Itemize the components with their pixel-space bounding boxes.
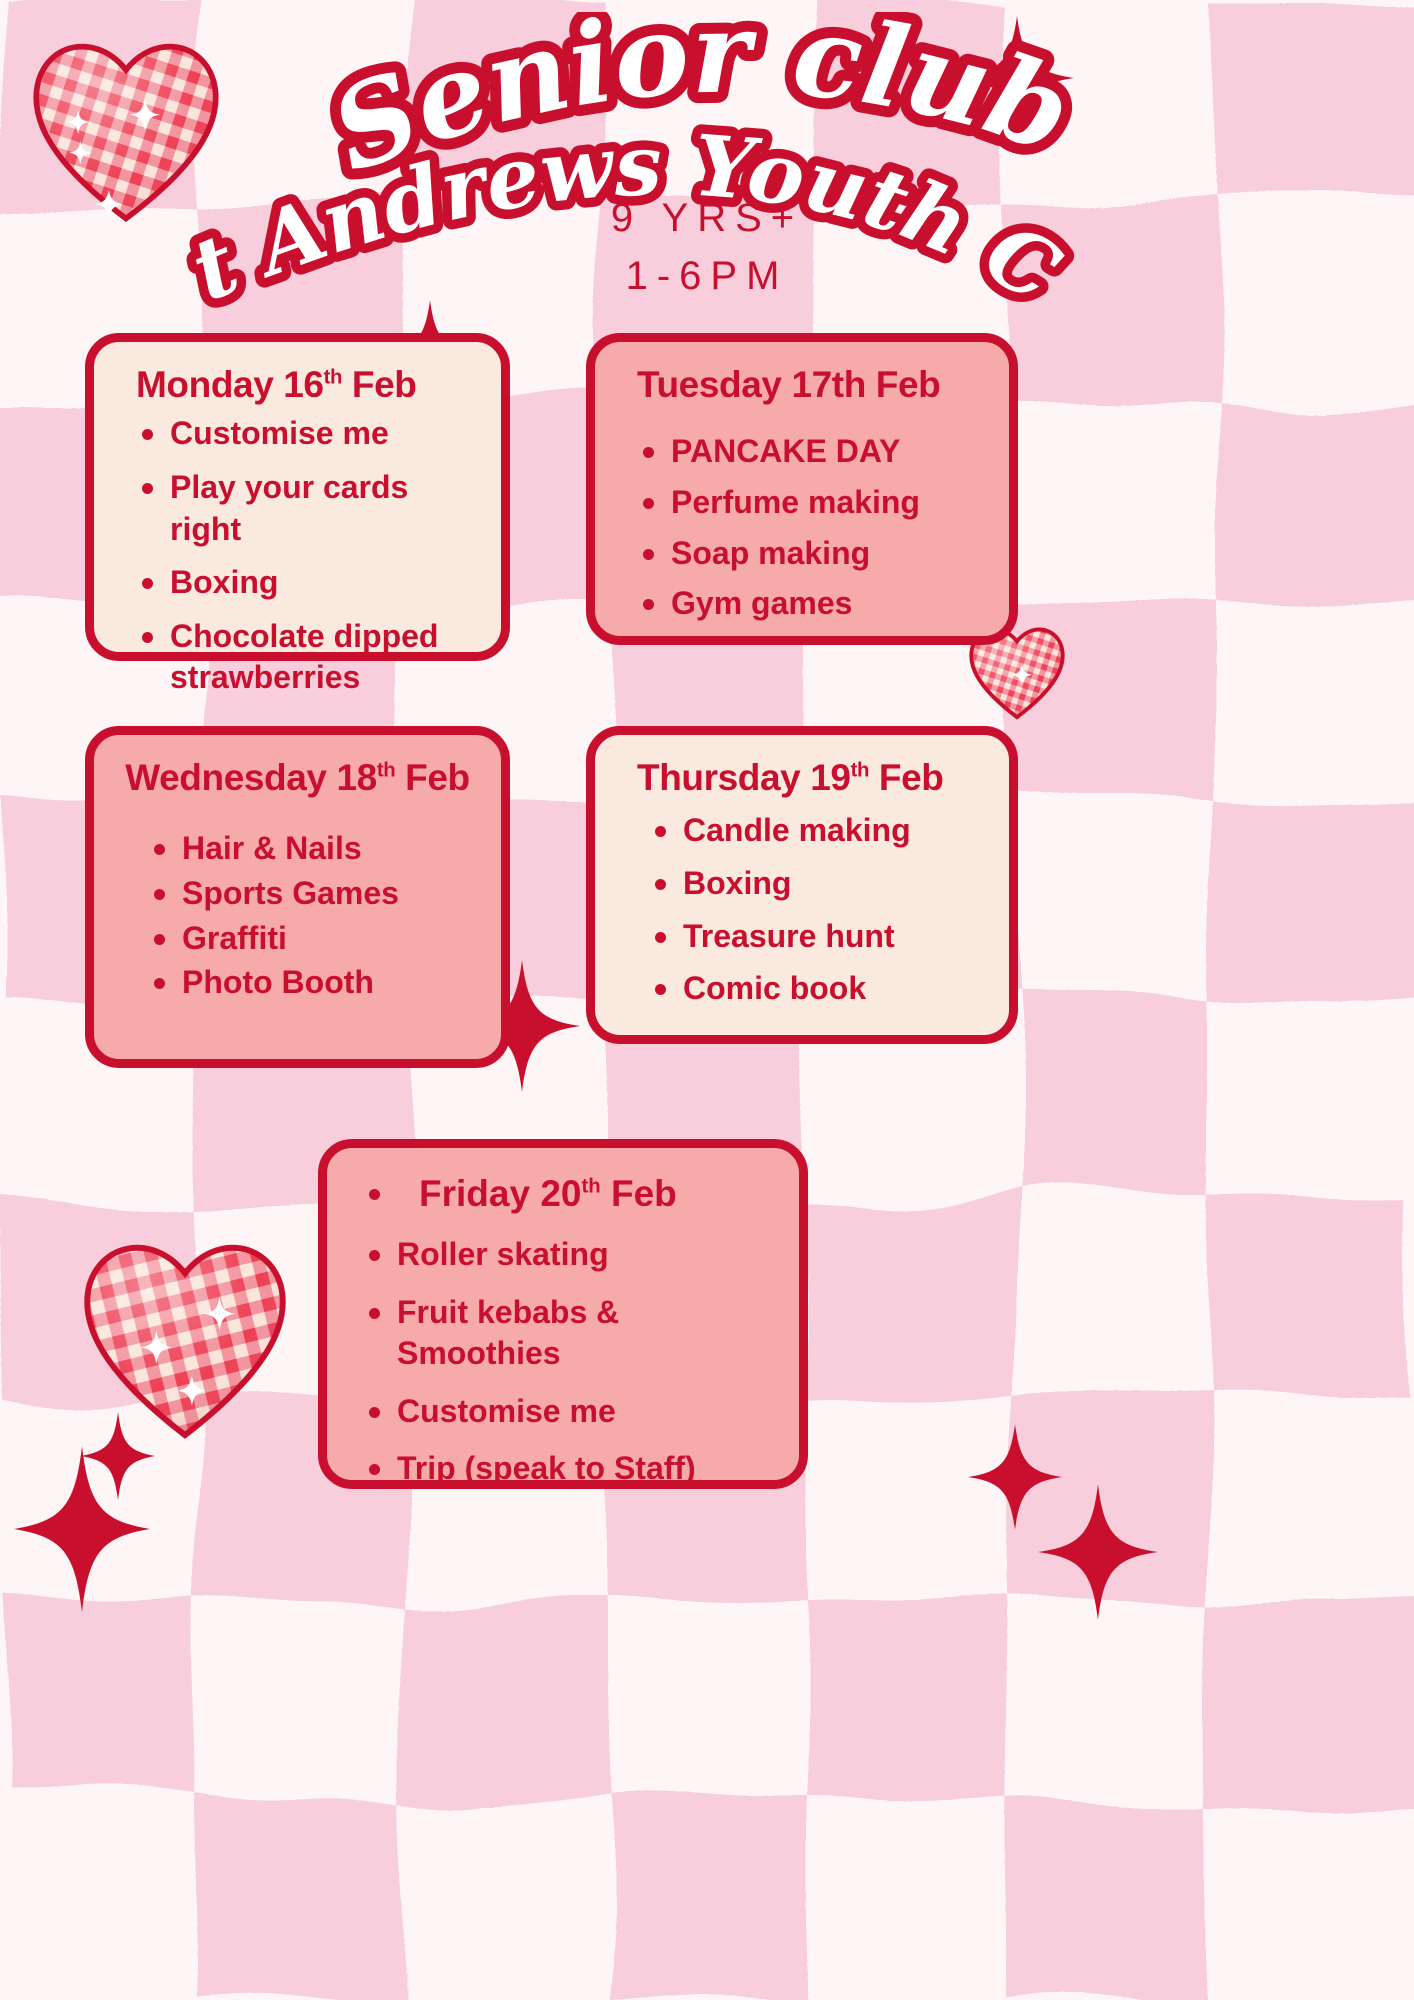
day-card-monday[interactable]: Monday 16th Feb Customise mePlay your ca… — [85, 333, 510, 661]
sparkle-bottom-right-large — [1038, 1484, 1158, 1620]
day-card-wednesday-title: Wednesday 18th Feb — [120, 757, 475, 798]
activity-item: Soap making — [671, 533, 983, 575]
disco-heart-bottom-left — [70, 1228, 300, 1443]
day-card-wednesday-activities: Hair & NailsSports GamesGraffitiPhoto Bo… — [120, 828, 475, 1003]
activity-item: Customise me — [397, 1391, 773, 1433]
activity-item: Hair & Nails — [182, 828, 475, 870]
activity-item: Perfume making — [671, 482, 983, 524]
activity-item: Play your cards right — [170, 467, 475, 550]
activity-item: Fruit kebabs & Smoothies — [397, 1292, 773, 1375]
day-card-tuesday-title: Tuesday 17th Feb — [621, 364, 983, 405]
age-requirement-text: 9 YRS+ — [0, 196, 1414, 241]
day-card-friday-title: Friday 20th Feb — [397, 1170, 773, 1218]
day-card-thursday-activities: Candle makingBoxingTreasure huntComic bo… — [621, 810, 983, 1009]
activity-item: Chocolate dipped strawberries — [170, 616, 475, 699]
day-card-friday[interactable]: Friday 20th FebRoller skatingFruit kebab… — [318, 1139, 808, 1489]
activity-item: PANCAKE DAY — [671, 431, 983, 473]
activity-item: Photo Booth — [182, 962, 475, 1004]
day-card-monday-title: Monday 16th Feb — [120, 364, 475, 405]
activity-item: Roller skating — [397, 1234, 773, 1276]
activity-item: Candle making — [683, 810, 983, 852]
poster-canvas: Senior club Senior club at St Andrews Yo… — [0, 0, 1414, 2000]
activity-item: Boxing — [683, 863, 983, 905]
activity-item: Graffiti — [182, 918, 475, 960]
activity-item: Boxing — [170, 562, 475, 604]
activity-item: Sports Games — [182, 873, 475, 915]
session-time-text: 1-6PM — [0, 254, 1414, 299]
sparkle-bottom-right — [968, 1424, 1062, 1530]
activity-item: Trip (speak to Staff) — [397, 1448, 773, 1490]
day-card-tuesday[interactable]: Tuesday 17th Feb PANCAKE DAYPerfume maki… — [586, 333, 1018, 645]
day-card-monday-activities: Customise mePlay your cards rightBoxingC… — [120, 413, 475, 699]
day-card-friday-activities: Friday 20th FebRoller skatingFruit kebab… — [353, 1170, 773, 1490]
day-card-wednesday[interactable]: Wednesday 18th Feb Hair & NailsSports Ga… — [85, 726, 510, 1068]
activity-item: Gym games — [671, 583, 983, 625]
activity-item: Treasure hunt — [683, 916, 983, 958]
day-card-thursday[interactable]: Thursday 19th Feb Candle makingBoxingTre… — [586, 726, 1018, 1044]
activity-item: Comic book — [683, 968, 983, 1010]
activity-item: Customise me — [170, 413, 475, 455]
sparkle-bottom-left — [14, 1446, 150, 1612]
day-card-thursday-title: Thursday 19th Feb — [621, 757, 983, 798]
sparkle-top-right — [960, 16, 1074, 140]
day-card-tuesday-activities: PANCAKE DAYPerfume makingSoap makingGym … — [621, 431, 983, 624]
